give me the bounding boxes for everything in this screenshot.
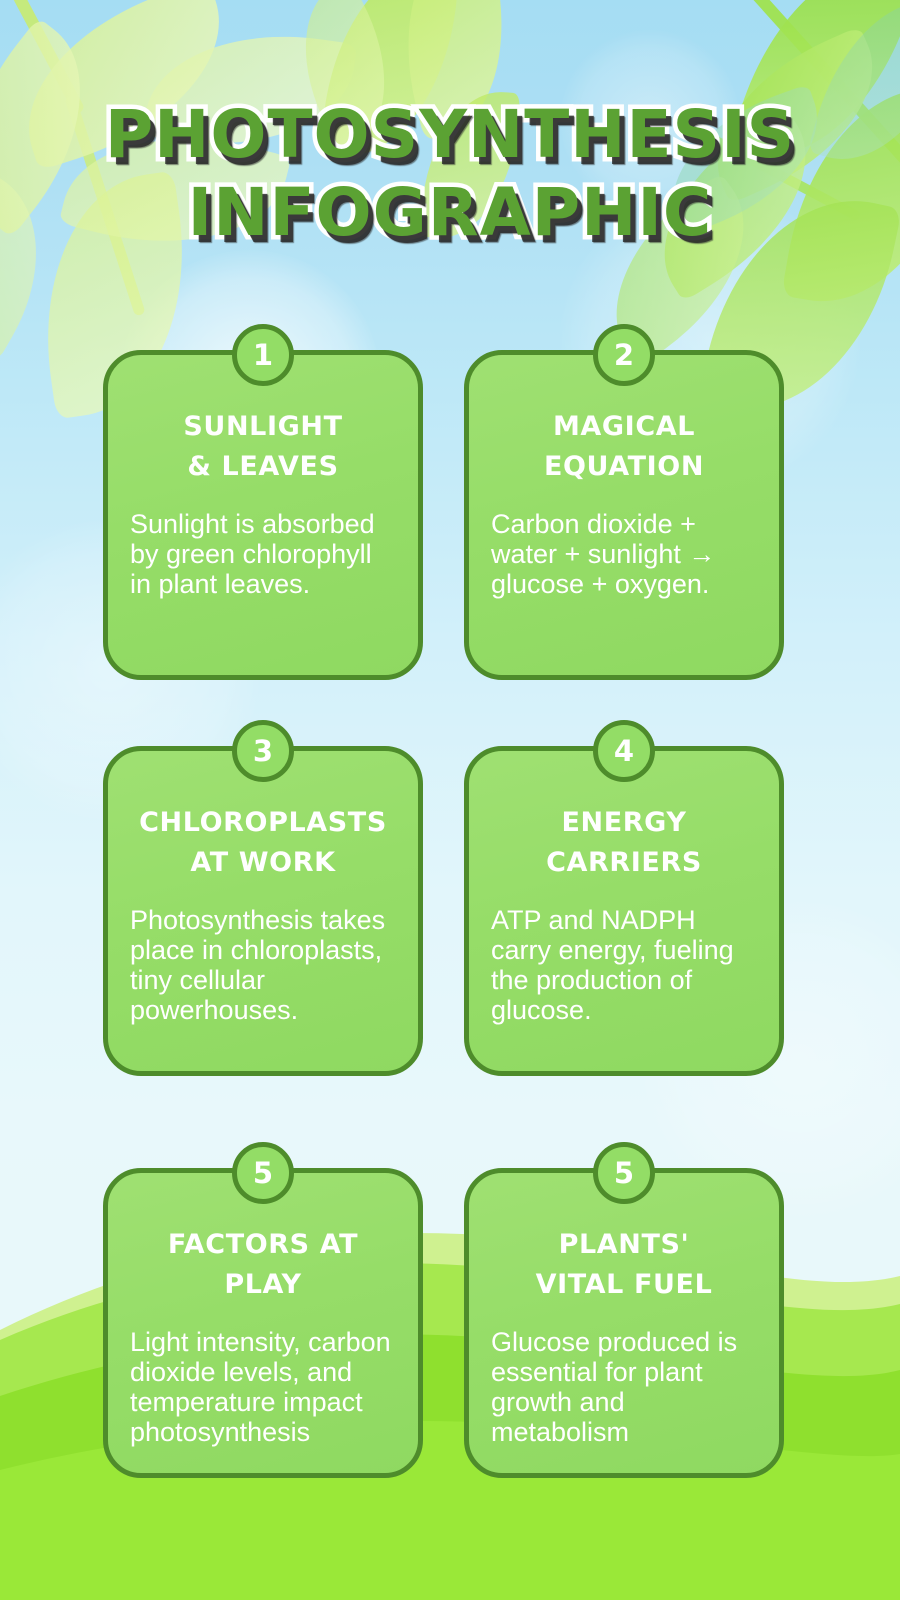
page-title: PHOTOSYNTHESIS INFOGRAPHIC — [0, 96, 900, 252]
card-heading: MAGICAL EQUATION — [491, 407, 757, 487]
info-card-1[interactable]: 1 SUNLIGHT & LEAVES Sunlight is absorbed… — [103, 350, 423, 680]
badge-number: 5 — [253, 1159, 273, 1188]
card-heading: SUNLIGHT & LEAVES — [130, 407, 396, 487]
card-body: ATP and NADPH carry energy, fueling the … — [491, 905, 757, 1025]
title-line-2: INFOGRAPHIC — [0, 174, 900, 252]
badge-number: 1 — [253, 341, 273, 370]
card-number-badge-5: 5 — [232, 1142, 294, 1204]
info-card-5[interactable]: 5 FACTORS AT PLAY Light intensity, carbo… — [103, 1168, 423, 1478]
info-card-6[interactable]: 5 PLANTS' VITAL FUEL Glucose produced is… — [464, 1168, 784, 1478]
badge-number: 4 — [614, 737, 634, 766]
card-body: Carbon dioxide + water + sunlight → gluc… — [491, 509, 757, 599]
card-body: Glucose produced is essential for plant … — [491, 1327, 757, 1447]
card-body: Photosynthesis takes place in chloroplas… — [130, 905, 396, 1025]
card-heading: PLANTS' VITAL FUEL — [491, 1225, 757, 1305]
card-number-badge-4: 4 — [593, 720, 655, 782]
title-line-1: PHOTOSYNTHESIS — [0, 96, 900, 174]
info-card-3[interactable]: 3 CHLOROPLASTS AT WORK Photosynthesis ta… — [103, 746, 423, 1076]
card-body: Light intensity, carbon dioxide levels, … — [130, 1327, 396, 1447]
card-number-badge-3: 3 — [232, 720, 294, 782]
info-card-2[interactable]: 2 MAGICAL EQUATION Carbon dioxide + wate… — [464, 350, 784, 680]
card-number-badge-6: 5 — [593, 1142, 655, 1204]
badge-number: 3 — [253, 737, 273, 766]
card-body: Sunlight is absorbed by green chlorophyl… — [130, 509, 396, 599]
card-heading: FACTORS AT PLAY — [130, 1225, 396, 1305]
badge-number: 5 — [614, 1159, 634, 1188]
card-heading: CHLOROPLASTS AT WORK — [130, 803, 396, 883]
card-heading: ENERGY CARRIERS — [491, 803, 757, 883]
card-number-badge-2: 2 — [593, 324, 655, 386]
card-number-badge-1: 1 — [232, 324, 294, 386]
info-card-4[interactable]: 4 ENERGY CARRIERS ATP and NADPH carry en… — [464, 746, 784, 1076]
infographic-poster: PHOTOSYNTHESIS INFOGRAPHIC 1 SUNLIGHT & … — [0, 0, 900, 1600]
badge-number: 2 — [614, 341, 634, 370]
